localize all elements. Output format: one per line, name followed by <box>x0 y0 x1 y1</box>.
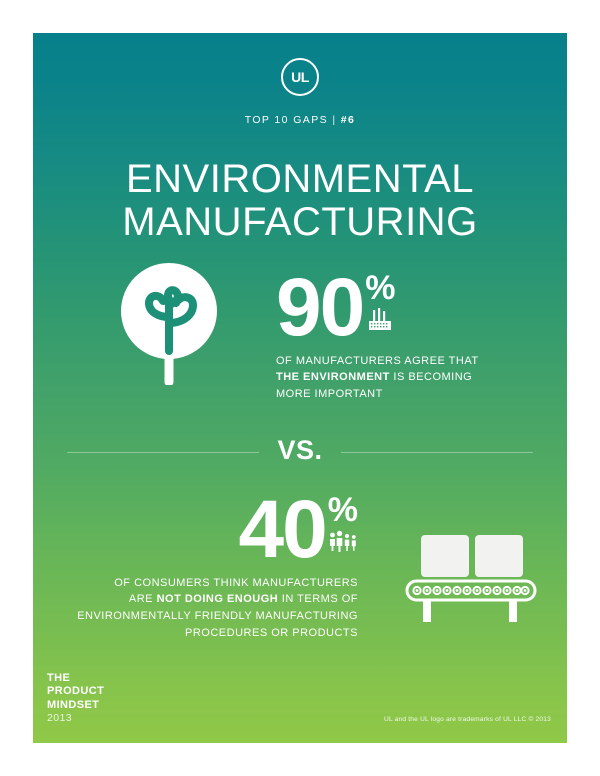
stat-consumers-percent-sign: % <box>328 495 358 526</box>
page-title: ENVIRONMENTAL MANUFACTURING <box>33 158 567 244</box>
conveyor-belt-icon <box>405 533 537 628</box>
divider-rule-right <box>341 452 533 453</box>
brand-mark: THE PRODUCT MINDSET 2013 <box>47 672 104 725</box>
stat-manufacturers-caption: OF MANUFACTURERS AGREE THAT THE ENVIRONM… <box>276 353 516 403</box>
caption-line-2-pre: ARE <box>129 593 157 605</box>
brand-line-1: THE <box>47 672 104 685</box>
stat-manufacturers: 90 % <box>276 273 516 403</box>
versus-label: VS. <box>259 435 340 466</box>
caption-line-2-rest: IS BECOMING <box>390 371 472 383</box>
poster-panel: UL TOP 10 GAPS | #6 ENVIRONMENTAL MANUFA… <box>33 33 567 743</box>
stat-consumers-number: 40 <box>239 495 326 566</box>
stat-consumers-percent-stack: % <box>328 495 358 557</box>
stat-consumers-value-row: 40 % <box>73 495 358 566</box>
caption-emphasis: NOT DOING ENOUGH <box>157 593 279 605</box>
divider-rule-left <box>67 452 259 453</box>
caption-line-3: MORE IMPORTANT <box>276 386 516 403</box>
brand-year: 2013 <box>47 712 104 725</box>
title-line-2: MANUFACTURING <box>33 201 567 244</box>
kicker-separator: | <box>332 114 336 126</box>
brand-line-2: PRODUCT <box>47 685 104 698</box>
infographic-page: UL TOP 10 GAPS | #6 ENVIRONMENTAL MANUFA… <box>0 0 600 776</box>
stat-manufacturers-percent-stack: % <box>365 273 395 337</box>
brand-line-3: MINDSET <box>47 699 104 712</box>
ul-circle-logo-icon: UL <box>281 58 319 96</box>
stat-manufacturers-value-row: 90 % <box>276 273 516 344</box>
tree-icon <box>113 255 225 390</box>
stat-consumers-caption: OF CONSUMERS THINK MANUFACTURERS ARE NOT… <box>73 575 358 642</box>
kicker-rank: #6 <box>341 114 355 126</box>
ul-logo-container: UL <box>33 58 567 101</box>
caption-line-1: OF CONSUMERS THINK MANUFACTURERS <box>73 575 358 592</box>
ul-logo-label: UL <box>283 70 317 84</box>
caption-line-3: ENVIRONMENTALLY FRIENDLY MANUFACTURING <box>73 608 358 625</box>
caption-line-2: THE ENVIRONMENT IS BECOMING <box>276 369 516 386</box>
kicker: TOP 10 GAPS | #6 <box>33 114 567 126</box>
caption-line-1: OF MANUFACTURERS AGREE THAT <box>276 353 516 370</box>
legal-notice: UL and the UL logo are trademarks of UL … <box>384 716 551 723</box>
caption-line-2-post: IN TERMS OF <box>278 593 358 605</box>
kicker-label: TOP 10 GAPS <box>245 114 328 126</box>
title-line-1: ENVIRONMENTAL <box>33 158 567 201</box>
caption-emphasis: THE ENVIRONMENT <box>276 371 390 383</box>
stat-manufacturers-number: 90 <box>276 273 363 344</box>
people-icon <box>328 530 358 557</box>
caption-line-2: ARE NOT DOING ENOUGH IN TERMS OF <box>73 591 358 608</box>
stat-manufacturers-percent-sign: % <box>365 273 395 304</box>
stat-consumers: 40 % <box>73 495 358 641</box>
factory-icon <box>367 308 393 337</box>
versus-divider: VS. <box>67 437 533 468</box>
caption-line-4: PROCEDURES OR PRODUCTS <box>73 625 358 642</box>
